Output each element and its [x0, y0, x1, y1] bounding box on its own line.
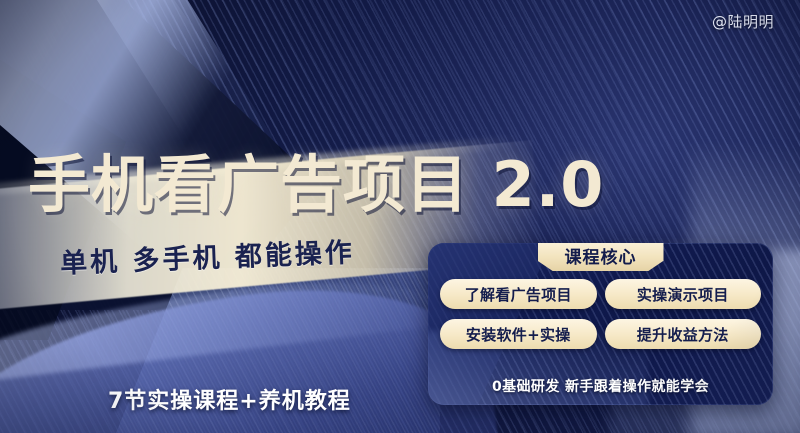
feature-pill-2[interactable]: 实操演示项目: [605, 279, 762, 309]
card-caption: 0基础研发 新手跟着操作就能学会: [428, 376, 773, 396]
watermark-handle: @陆明明: [712, 11, 774, 32]
card-banner: 课程核心: [538, 243, 664, 271]
feature-pill-1[interactable]: 了解看广告项目: [440, 279, 597, 309]
feature-pill-label: 安装软件+实操: [466, 324, 571, 345]
feature-pill-4[interactable]: 提升收益方法: [605, 319, 762, 349]
promo-poster: @陆明明 手机看广告项目 2.0 单机 多手机 都能操作 7节实操课程+养机教程…: [0, 0, 800, 433]
page-title: 手机看广告项目 2.0: [28, 154, 604, 216]
card-banner-label: 课程核心: [565, 243, 637, 268]
course-core-card: 课程核心 了解看广告项目 实操演示项目 安装软件+实操 提升收益方法 0基础研发…: [428, 243, 773, 405]
course-count-footnote: 7节实操课程+养机教程: [108, 383, 351, 415]
feature-pill-3[interactable]: 安装软件+实操: [440, 319, 597, 349]
feature-pill-label: 实操演示项目: [637, 284, 729, 305]
feature-pill-label: 提升收益方法: [637, 324, 729, 345]
feature-pill-grid: 了解看广告项目 实操演示项目 安装软件+实操 提升收益方法: [428, 279, 773, 349]
feature-pill-label: 了解看广告项目: [465, 284, 572, 305]
